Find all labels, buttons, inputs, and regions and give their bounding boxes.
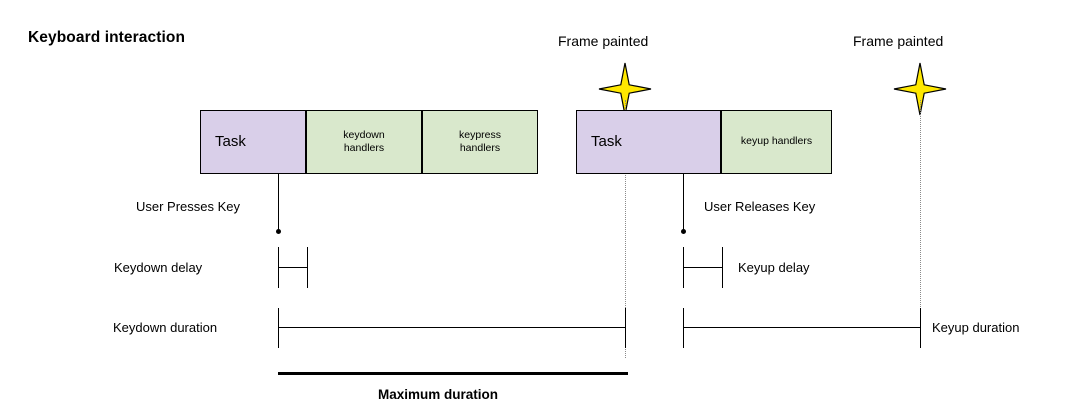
keydown-duration-label: Keydown duration (113, 321, 217, 334)
keyboard-interaction-diagram: Keyboard interaction Frame painted Frame… (0, 0, 1080, 420)
keydown-duration-bracket-right (625, 308, 626, 348)
keyup-delay-bracket-span (683, 267, 723, 268)
keyup-handlers-block: keyup handlers (721, 110, 832, 174)
keydown-duration-bracket-span (278, 327, 626, 328)
keydown-delay-bracket-span (278, 267, 308, 268)
task-block-2-label: Task (591, 133, 622, 152)
keyup-duration-bracket-span (683, 327, 921, 328)
keypress-handlers-block: keypress handlers (422, 110, 538, 174)
keyup-duration-bracket-right (920, 308, 921, 348)
keyup-duration-label: Keyup duration (932, 321, 1019, 334)
keypress-handlers-label: keypress handlers (459, 129, 501, 155)
keydown-handlers-block: keydown handlers (306, 110, 422, 174)
diagram-title: Keyboard interaction (28, 29, 185, 47)
user-presses-key-leader-line (278, 174, 279, 231)
task-block-1: Task (200, 110, 306, 174)
user-releases-key-dot (681, 229, 686, 234)
frame-painted-label-2: Frame painted (853, 34, 943, 48)
keyup-handlers-label: keyup handlers (741, 135, 812, 148)
maximum-duration-label: Maximum duration (378, 388, 498, 402)
user-presses-key-label: User Presses Key (136, 200, 240, 213)
maximum-duration-bar (278, 372, 628, 375)
keydown-handlers-label: keydown handlers (343, 129, 384, 155)
user-releases-key-label: User Releases Key (704, 200, 815, 213)
keydown-duration-bracket-left (278, 308, 279, 348)
frame-guide-line-2 (920, 100, 921, 343)
keyup-duration-bracket-left (683, 308, 684, 348)
task-block-2: Task (576, 110, 721, 174)
user-releases-key-leader-line (683, 174, 684, 231)
user-presses-key-dot (276, 229, 281, 234)
frame-painted-label-1: Frame painted (558, 34, 648, 48)
task-block-1-label: Task (215, 133, 246, 152)
keyup-delay-label: Keyup delay (738, 261, 810, 274)
keydown-delay-label: Keydown delay (114, 261, 202, 274)
